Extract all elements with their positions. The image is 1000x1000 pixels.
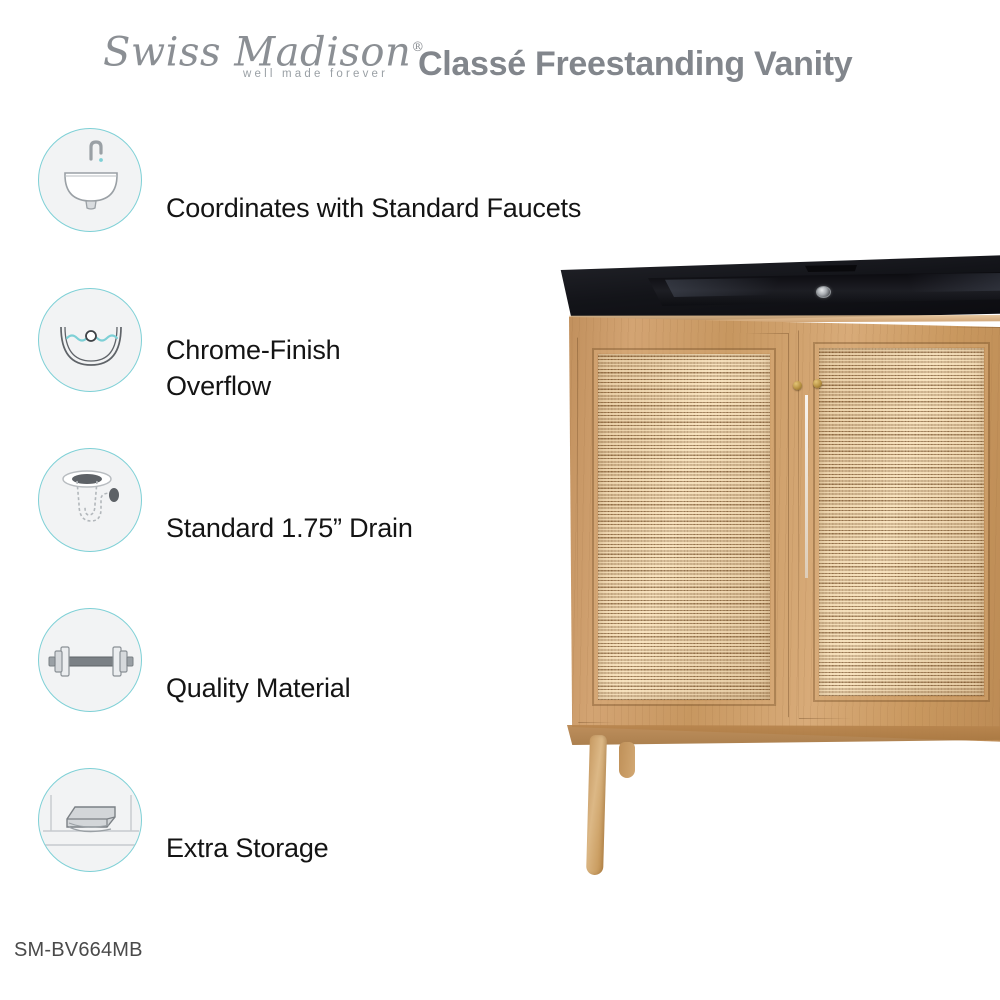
page-title: Classé Freestanding Vanity: [418, 45, 852, 84]
sink-faucet-icon: [38, 128, 142, 232]
cane-shading: [819, 348, 984, 696]
sku-label: SM-BV664MB: [14, 939, 143, 962]
product-infographic: Swiss Madison® well made forever Classé …: [0, 0, 1000, 1000]
rattan-cane-panel: [819, 348, 984, 696]
overflow-basin-icon: [38, 288, 142, 392]
rattan-cane-panel: [598, 354, 770, 700]
drain-ptrap-icon: [38, 448, 142, 552]
door-seam: [805, 395, 808, 578]
feature-label: Coordinates with Standard Faucets: [166, 190, 686, 226]
brass-knob-left[interactable]: [793, 381, 802, 390]
faucet-deck: [805, 265, 857, 272]
cabinet-leg-front: [586, 735, 607, 875]
folded-towels-icon: [38, 768, 142, 872]
cane-shading: [598, 354, 770, 700]
brand-tagline: well made forever: [243, 68, 388, 80]
header: Swiss Madison® well made forever Classé …: [0, 18, 1000, 88]
dumbbell-icon: [38, 608, 142, 712]
basin-highlight: [665, 277, 815, 297]
cabinet-door-right[interactable]: [798, 327, 1000, 719]
cabinet-door-left[interactable]: [577, 333, 789, 723]
product-image: [540, 255, 1000, 880]
brand-logo: Swiss Madison® well made forever: [103, 26, 393, 88]
cabinet-leg-back: [619, 742, 635, 778]
brass-knob-right[interactable]: [813, 379, 822, 388]
chrome-drain: [816, 286, 831, 298]
